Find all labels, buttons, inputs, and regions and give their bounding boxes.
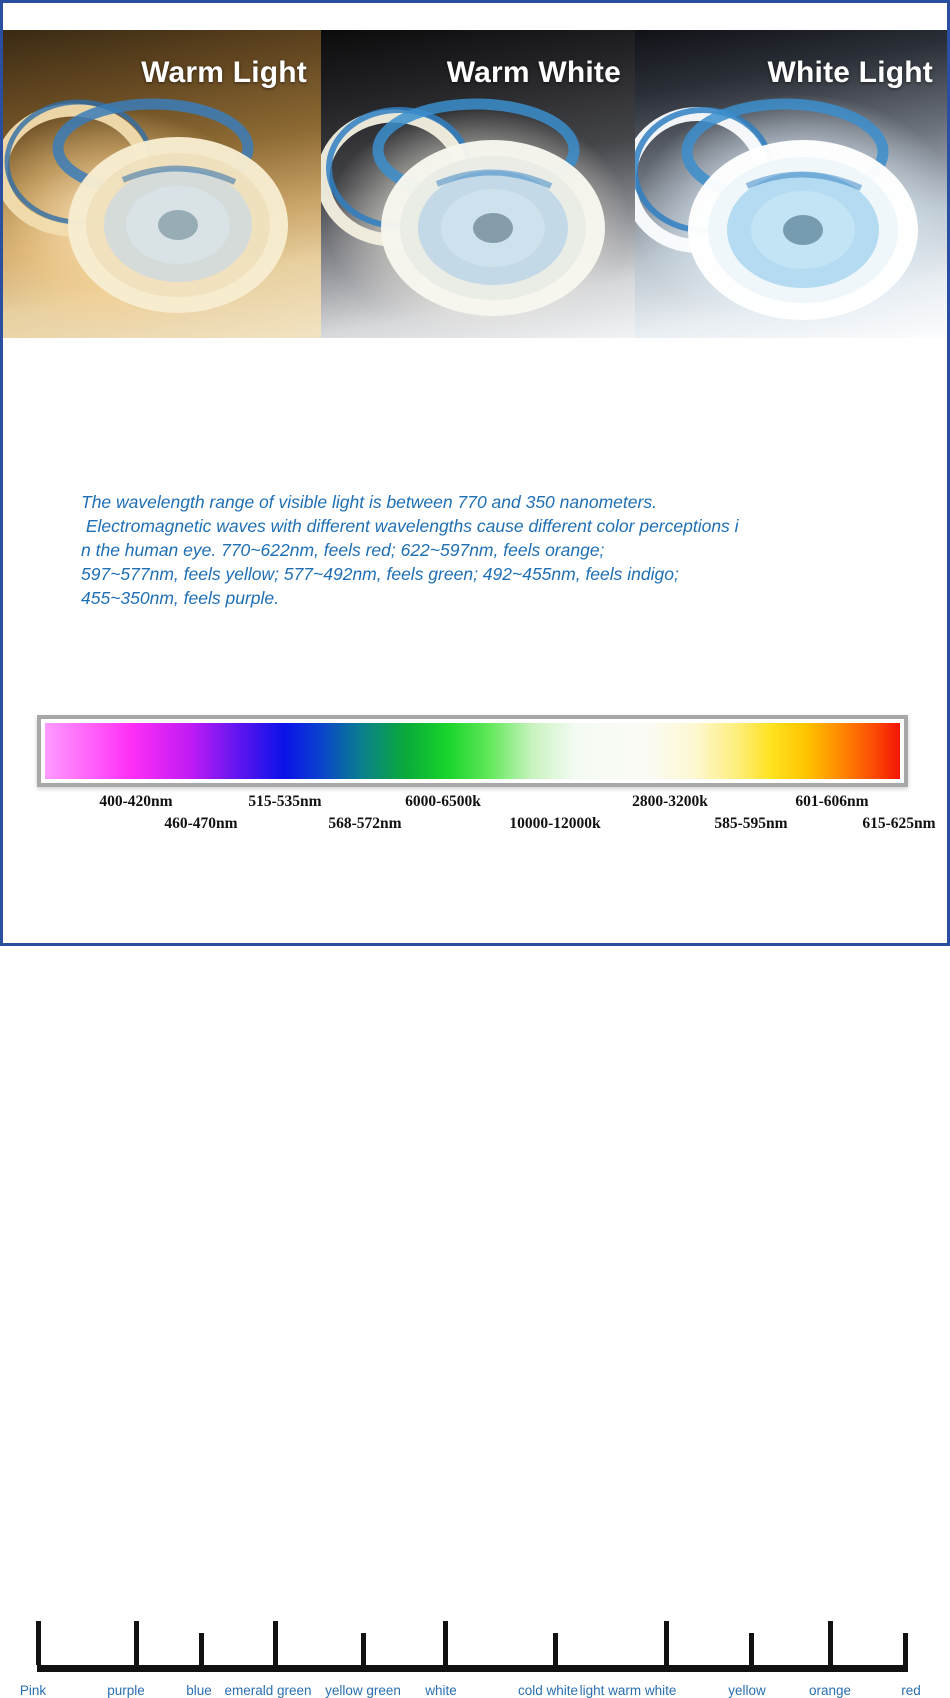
axis-tick [443, 1621, 448, 1665]
color-name-label: blue [186, 1683, 212, 1698]
color-name-label: Pink [20, 1683, 46, 1698]
spectrum-bar [37, 715, 908, 787]
color-name-label: yellow green [325, 1683, 401, 1698]
photo-title: White Light [768, 56, 934, 90]
range-label: 460-470nm [164, 815, 237, 833]
axis-tick [903, 1633, 908, 1665]
spectrum-axis: 400-420nm515-535nm6000-6500k2800-3200k60… [3, 793, 947, 923]
photo-white-light: White Light [635, 30, 947, 338]
color-name-label: yellow [728, 1683, 766, 1698]
range-label: 568-572nm [328, 815, 401, 833]
color-name-label: light warm white [580, 1683, 677, 1698]
range-label: 10000-12000k [509, 815, 600, 833]
range-label: 2800-3200k [632, 793, 708, 811]
photo-warm-white: Warm White [321, 30, 635, 338]
axis-tick [828, 1621, 833, 1665]
axis-tick [553, 1633, 558, 1665]
photo-title: Warm White [447, 56, 621, 90]
range-label: 400-420nm [99, 793, 172, 811]
axis-tick [199, 1633, 204, 1665]
led-strip-photo-row: Warm Light Warm White [3, 30, 947, 338]
blurb-line-3: n the human eye. 770~622nm, feels red; 6… [81, 538, 911, 562]
axis-tick [361, 1633, 366, 1665]
blurb-line-1: The wavelength range of visible light is… [81, 490, 911, 514]
photo-title: Warm Light [141, 56, 307, 90]
axis-baseline [37, 1665, 908, 1672]
color-name-label: cold white [518, 1683, 578, 1698]
product-infographic: Warm Light Warm White [0, 0, 950, 946]
range-label: 515-535nm [248, 793, 321, 811]
spectrum-frame [37, 715, 908, 787]
range-label: 6000-6500k [405, 793, 481, 811]
axis-tick [664, 1621, 669, 1665]
blurb-line-5: 455~350nm, feels purple. [81, 586, 911, 610]
axis-tick [134, 1621, 139, 1665]
range-label: 585-595nm [714, 815, 787, 833]
color-name-label: orange [809, 1683, 851, 1698]
color-name-label: purple [107, 1683, 145, 1698]
axis-tick [273, 1621, 278, 1665]
range-label: 615-625nm [862, 815, 935, 833]
blurb-line-2: Electromagnetic waves with different wav… [81, 514, 911, 538]
spectrum-gradient [45, 723, 900, 779]
visible-light-description: The wavelength range of visible light is… [81, 490, 911, 610]
blurb-line-4: 597~577nm, feels yellow; 577~492nm, feel… [81, 562, 911, 586]
range-label: 601-606nm [795, 793, 868, 811]
axis-tick [749, 1633, 754, 1665]
color-name-label: emerald green [224, 1683, 311, 1698]
color-name-label: red [901, 1683, 921, 1698]
photo-warm-light: Warm Light [3, 30, 321, 338]
axis-tick [36, 1621, 41, 1665]
color-name-label: white [425, 1683, 457, 1698]
